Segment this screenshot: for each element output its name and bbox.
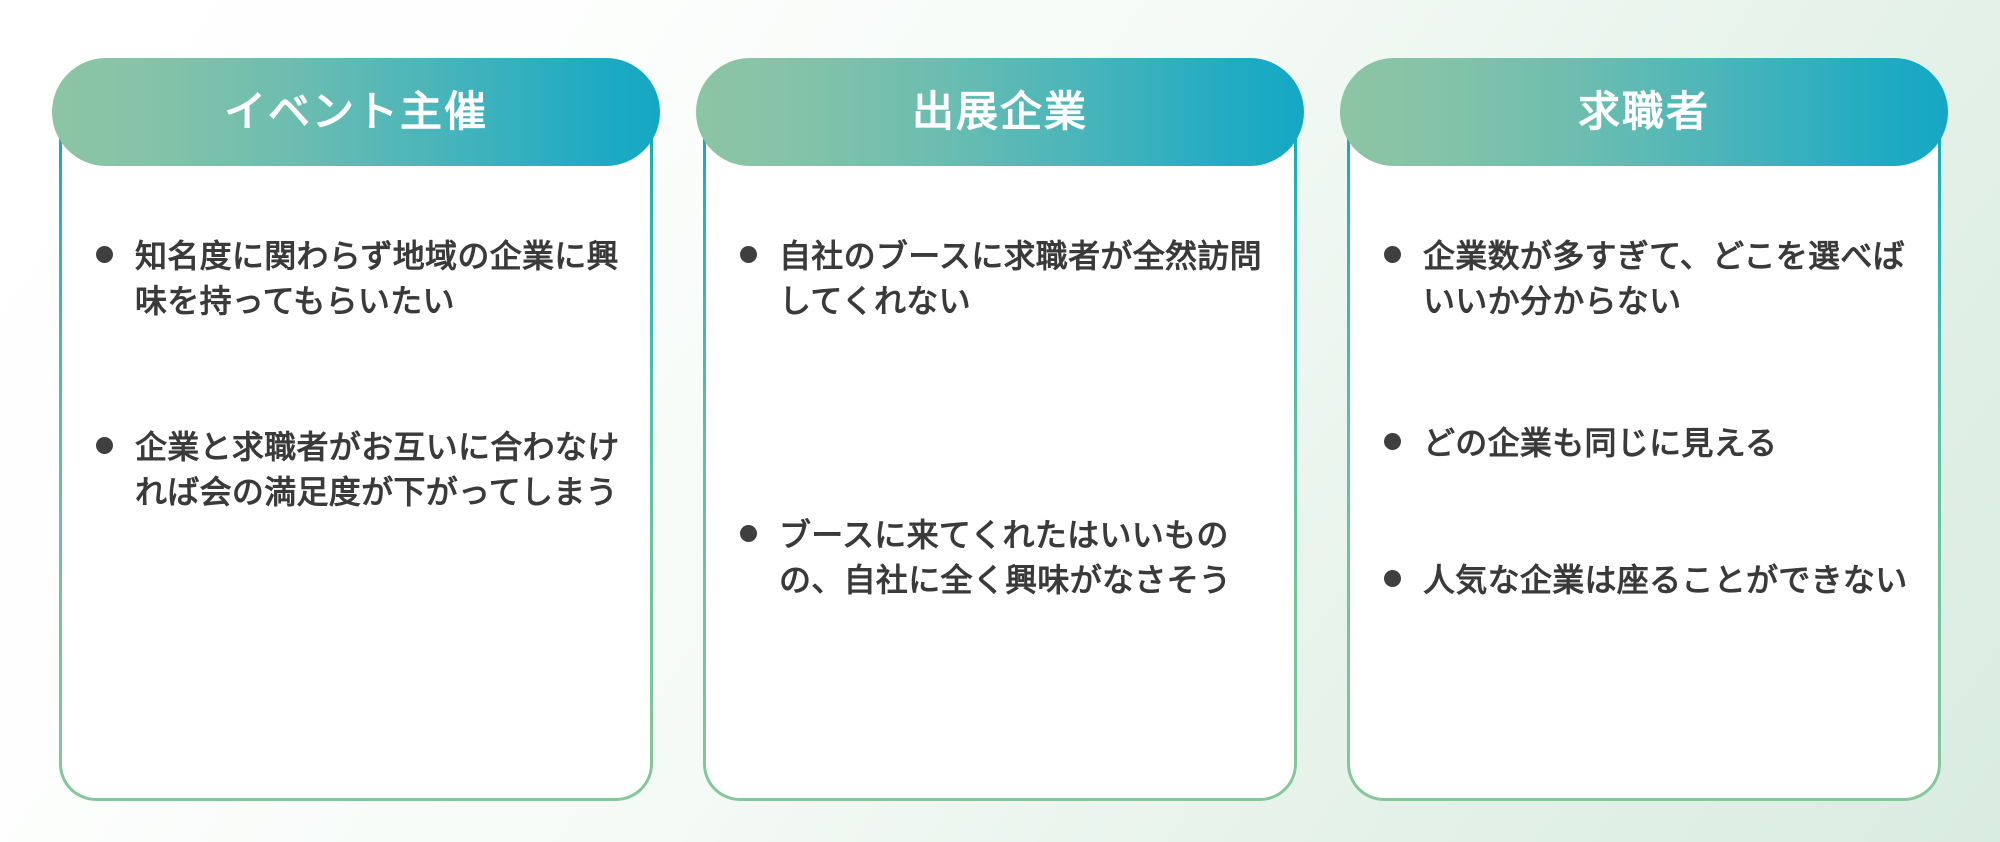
bullet-dot-icon	[740, 246, 757, 263]
bullet-dot-icon	[96, 437, 113, 454]
bullet-text: 自社のブースに求職者が全然訪問してくれない	[779, 234, 1268, 325]
list-item: 知名度に関わらず地域の企業に興味を持ってもらいたい	[96, 234, 624, 325]
persona-card-exhibiting-company: 出展企業 自社のブースに求職者が全然訪問してくれない ブースに来てくれたはいいも…	[696, 58, 1304, 798]
bullet-dot-icon	[1384, 570, 1401, 587]
card-body: 自社のブースに求職者が全然訪問してくれない ブースに来てくれたはいいものの、自社…	[696, 106, 1304, 798]
bullet-text: ブースに来てくれたはいいものの、自社に全く興味がなさそう	[779, 513, 1268, 604]
bullet-dot-icon	[1384, 433, 1401, 450]
bullet-text: 知名度に関わらず地域の企業に興味を持ってもらいたい	[135, 234, 624, 325]
bullet-list: 企業数が多すぎて、どこを選べばいいか分からない どの企業も同じに見える 人気な企…	[1384, 234, 1912, 604]
bullet-text: 人気な企業は座ることができない	[1423, 558, 1908, 603]
persona-card-job-seeker: 求職者 企業数が多すぎて、どこを選べばいいか分からない どの企業も同じに見える …	[1340, 58, 1948, 798]
bullet-list: 知名度に関わらず地域の企業に興味を持ってもらいたい 企業と求職者がお互いに合わな…	[96, 234, 624, 516]
bullet-dot-icon	[1384, 246, 1401, 263]
list-item: 自社のブースに求職者が全然訪問してくれない	[740, 234, 1268, 325]
three-column-persona-board: イベント主催 知名度に関わらず地域の企業に興味を持ってもらいたい 企業と求職者が…	[0, 0, 2000, 842]
list-item: 企業数が多すぎて、どこを選べばいいか分からない	[1384, 234, 1912, 325]
list-item: ブースに来てくれたはいいものの、自社に全く興味がなさそう	[740, 513, 1268, 604]
card-body: 知名度に関わらず地域の企業に興味を持ってもらいたい 企業と求職者がお互いに合わな…	[52, 106, 660, 798]
bullet-text: 企業と求職者がお互いに合わなければ会の満足度が下がってしまう	[135, 425, 624, 516]
bullet-list: 自社のブースに求職者が全然訪問してくれない ブースに来てくれたはいいものの、自社…	[740, 234, 1268, 604]
list-item: どの企業も同じに見える	[1384, 421, 1912, 466]
card-body: 企業数が多すぎて、どこを選べばいいか分からない どの企業も同じに見える 人気な企…	[1340, 106, 1948, 798]
bullet-text: 企業数が多すぎて、どこを選べばいいか分からない	[1423, 234, 1912, 325]
bullet-text: どの企業も同じに見える	[1423, 421, 1777, 466]
bullet-dot-icon	[96, 246, 113, 263]
list-item: 人気な企業は座ることができない	[1384, 558, 1912, 603]
list-item: 企業と求職者がお互いに合わなければ会の満足度が下がってしまう	[96, 425, 624, 516]
persona-card-event-organizer: イベント主催 知名度に関わらず地域の企業に興味を持ってもらいたい 企業と求職者が…	[52, 58, 660, 798]
bullet-dot-icon	[740, 525, 757, 542]
